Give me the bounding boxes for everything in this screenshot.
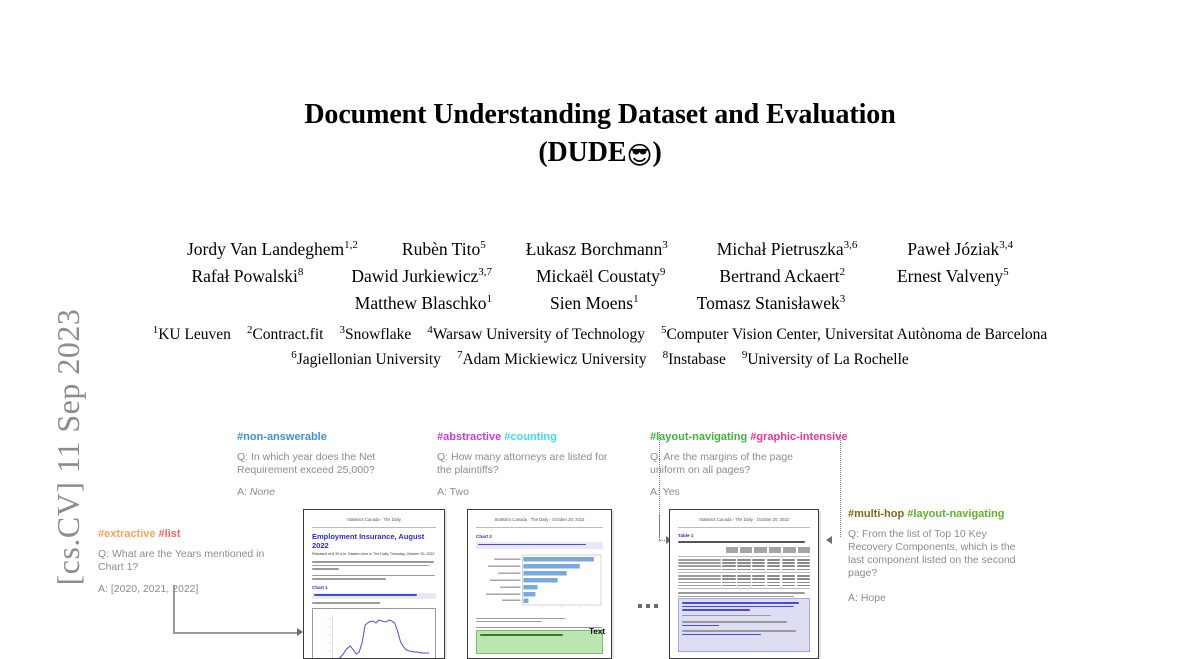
thumb-footer-info-box	[678, 598, 810, 652]
affiliation-entry: 4Warsaw University of Technology	[427, 322, 645, 347]
qa-tag: #list	[156, 528, 181, 540]
affiliations-block: 1KU Leuven2Contract.fit3Snowflake4Warsaw…	[0, 322, 1200, 372]
author-name: Matthew Blaschko1	[355, 290, 492, 317]
author-name: Paweł Józiak3,4	[907, 236, 1013, 263]
qa-tags: #non-answerable	[237, 430, 405, 444]
affiliation-label: Jagiellonian University	[297, 351, 441, 368]
thumb-bar-chart	[476, 554, 603, 614]
author-affiliation-marker: 8	[298, 266, 304, 278]
dotted-arrowhead-right-icon	[826, 536, 832, 544]
author-name: Bertrand Ackaert2	[719, 263, 845, 290]
affiliation-label: KU Leuven	[158, 326, 231, 343]
author-affiliation-marker: 3	[840, 293, 846, 305]
author-label: Sien Moens	[550, 293, 633, 313]
qa-question: Q: From the list of Top 10 Key Recovery …	[848, 528, 1033, 580]
author-affiliation-marker: 3	[662, 239, 668, 251]
author-name: Rubèn Tito5	[402, 236, 486, 263]
author-affiliation-marker: 1	[633, 293, 639, 305]
thumb-paragraph	[312, 575, 436, 580]
author-name: Rafał Powalski8	[191, 263, 303, 290]
qa-tags: #multi-hop #layout-navigating	[848, 507, 1033, 521]
affiliation-entry: 7Adam Mickiewicz University	[457, 347, 647, 372]
thumb-subtitle: Released at 8:30 a.m. Eastern time in Th…	[312, 552, 436, 556]
author-label: Bertrand Ackaert	[719, 266, 839, 286]
affiliation-entry: 5Computer Vision Center, Universitat Aut…	[661, 322, 1047, 347]
paper-title-line-2: (DUDE😎)	[0, 134, 1200, 175]
thumb-header: Statistics Canada · The Daily	[312, 517, 436, 522]
qa-answer-value: Two	[450, 486, 469, 498]
dotted-connector-left	[659, 514, 660, 540]
document-thumbnail-table[interactable]: Statistics Canada · The Daily · October …	[669, 509, 819, 659]
qa-answer-prefix: A:	[848, 592, 861, 604]
qa-tag: #multi-hop	[848, 508, 904, 520]
qa-answer: A: Yes	[650, 486, 825, 499]
affiliation-entry: 6Jagiellonian University	[291, 347, 441, 372]
qa-block-abstractive-counting: #abstractive #counting Q: How many attor…	[437, 430, 617, 499]
affiliation-row: 1KU Leuven2Contract.fit3Snowflake4Warsaw…	[0, 322, 1200, 347]
qa-tag: #non-answerable	[237, 431, 327, 443]
qa-block-extractive-list: #extractive #list Q: What are the Years …	[98, 527, 273, 596]
author-name: Jordy Van Landeghem1,2	[187, 236, 358, 263]
thumb-table-header	[678, 547, 810, 553]
qa-answer-prefix: A:	[437, 486, 450, 498]
thumb-footer-highlight-box	[476, 630, 603, 654]
author-row: Jordy Van Landeghem1,2Rubèn Tito5Łukasz …	[0, 236, 1200, 263]
qa-question: Q: In which year does the Net Requiremen…	[237, 451, 405, 477]
teaser-figure: #extractive #list Q: What are the Years …	[0, 410, 1200, 648]
dotted-connector-top-right	[840, 432, 841, 537]
paper-title-acronym-prefix: (DUDE	[538, 137, 626, 168]
qa-tag: #extractive	[98, 528, 156, 540]
qa-answer-prefix: A:	[650, 486, 663, 498]
author-affiliation-marker: 3,7	[478, 266, 492, 278]
qa-question: Q: How many attorneys are listed for the…	[437, 451, 617, 477]
author-name: Dawid Jurkiewicz3,7	[351, 263, 492, 290]
author-label: Mickaël Coustaty	[536, 266, 660, 286]
author-name: Ernest Valveny5	[897, 263, 1009, 290]
thumb-section-label: Chart 1	[312, 585, 436, 591]
document-thumbnail-bar-chart[interactable]: Statistics Canada · The Daily · October …	[467, 509, 612, 659]
author-name: Tomasz Stanisławek3	[697, 290, 846, 317]
qa-answer: A: None	[237, 486, 405, 499]
author-label: Łukasz Borchmann	[526, 239, 663, 259]
author-name: Łukasz Borchmann3	[526, 236, 668, 263]
connector-horizontal-segment	[173, 632, 301, 634]
qa-answer-prefix: A:	[98, 583, 111, 595]
affiliation-entry: 1KU Leuven	[153, 322, 231, 347]
thumb-title: Employment Insurance, August 2022	[312, 532, 436, 550]
author-affiliation-marker: 5	[1003, 266, 1009, 278]
line-chart-icon	[313, 609, 435, 659]
author-label: Michał Pietruszka	[717, 239, 844, 259]
author-label: Rafał Powalski	[191, 266, 297, 286]
qa-tag: #abstractive	[437, 431, 501, 443]
paper-header: Document Understanding Dataset and Evalu…	[0, 96, 1200, 175]
paper-title-acronym-suffix: )	[652, 137, 661, 168]
affiliation-entry: 8Instabase	[663, 347, 726, 372]
author-label: Matthew Blaschko	[355, 293, 487, 313]
thumb-section-label: Chart 2	[476, 534, 603, 540]
affiliation-entry: 3Snowflake	[339, 322, 411, 347]
thumb-paragraph	[312, 561, 436, 570]
connector-vertical-segment	[173, 585, 175, 633]
affiliation-label: Warsaw University of Technology	[433, 326, 645, 343]
thumb-table-body	[678, 559, 810, 589]
qa-question: Q: What are the Years mentioned in Chart…	[98, 548, 273, 574]
thumb-header: Statistics Canada · The Daily · October …	[678, 517, 810, 522]
affiliation-label: Instabase	[668, 351, 726, 368]
qa-block-layout-navigating-graphic-intensive: #layout-navigating #graphic-intensive Q:…	[650, 430, 825, 499]
ellipsis-indicator	[638, 604, 658, 608]
qa-tags: #abstractive #counting	[437, 430, 617, 444]
thumb-line-chart	[312, 608, 436, 659]
qa-tag: #layout-navigating	[650, 431, 747, 443]
author-affiliation-marker: 5	[480, 239, 486, 251]
affiliation-entry: 2Contract.fit	[247, 322, 324, 347]
qa-block-multi-hop-layout-navigating: #multi-hop #layout-navigating Q: From th…	[848, 507, 1033, 605]
author-affiliation-marker: 1	[486, 293, 492, 305]
author-affiliation-marker: 1,2	[344, 239, 358, 251]
qa-question: Q: Are the margins of the page uniform o…	[650, 451, 825, 477]
qa-tags: #layout-navigating #graphic-intensive	[650, 430, 825, 444]
author-label: Paweł Józiak	[907, 239, 999, 259]
affiliation-label: Computer Vision Center, Universitat Autò…	[666, 326, 1047, 343]
qa-answer-value: Hope	[861, 592, 886, 604]
affiliation-label: Contract.fit	[252, 326, 323, 343]
document-thumbnail-employment-insurance[interactable]: Statistics Canada · The Daily Employment…	[303, 509, 445, 659]
paper-title-line-1: Document Understanding Dataset and Evalu…	[0, 96, 1200, 134]
affiliation-entry: 9University of La Rochelle	[742, 347, 909, 372]
thumb-chart-caption	[476, 542, 603, 549]
qa-answer: A: Hope	[848, 592, 1033, 605]
qa-answer: A: [2020, 2021, 2022]	[98, 583, 273, 596]
author-affiliation-marker: 3,4	[999, 239, 1013, 251]
qa-answer-value: [2020, 2021, 2022]	[111, 583, 199, 595]
author-label: Rubèn Tito	[402, 239, 480, 259]
qa-tag: #counting	[501, 431, 557, 443]
author-row: Rafał Powalski8Dawid Jurkiewicz3,7Mickaë…	[0, 263, 1200, 290]
author-label: Tomasz Stanisławek	[697, 293, 840, 313]
qa-tags: #extractive #list	[98, 527, 273, 541]
thumb-chart-caption	[312, 593, 436, 600]
author-name: Sien Moens1	[550, 290, 639, 317]
author-label: Jordy Van Landeghem	[187, 239, 344, 259]
author-affiliation-marker: 9	[660, 266, 666, 278]
qa-tag: #graphic-intensive	[747, 431, 847, 443]
author-name: Michał Pietruszka3,6	[717, 236, 858, 263]
affiliation-label: University of La Rochelle	[747, 351, 908, 368]
qa-block-non-answerable: #non-answerable Q: In which year does th…	[237, 430, 405, 499]
qa-answer-prefix: A:	[237, 486, 250, 498]
qa-tag: #layout-navigating	[904, 508, 1004, 520]
sunglasses-emoji-icon: 😎	[626, 141, 652, 170]
affiliation-label: Snowflake	[345, 326, 411, 343]
authors-block: Jordy Van Landeghem1,2Rubèn Tito5Łukasz …	[0, 236, 1200, 317]
qa-answer-value: Yes	[663, 486, 680, 498]
author-affiliation-marker: 2	[839, 266, 845, 278]
affiliation-label: Adam Mickiewicz University	[462, 351, 646, 368]
thumb-section-label: Table 1	[678, 533, 810, 539]
bar-chart-icon	[476, 554, 603, 614]
author-label: Dawid Jurkiewicz	[351, 266, 478, 286]
author-row: Matthew Blaschko1Sien Moens1Tomasz Stani…	[0, 290, 1200, 317]
affiliation-row: 6Jagiellonian University7Adam Mickiewicz…	[0, 347, 1200, 372]
qa-answer-value: None	[250, 486, 275, 498]
thumb-header: Statistics Canada · The Daily · October …	[476, 517, 603, 522]
author-name: Mickaël Coustaty9	[536, 263, 665, 290]
thumb-corner-text-label: Text	[589, 627, 605, 636]
author-affiliation-marker: 3,6	[844, 239, 858, 251]
qa-answer: A: Two	[437, 486, 617, 499]
author-label: Ernest Valveny	[897, 266, 1003, 286]
